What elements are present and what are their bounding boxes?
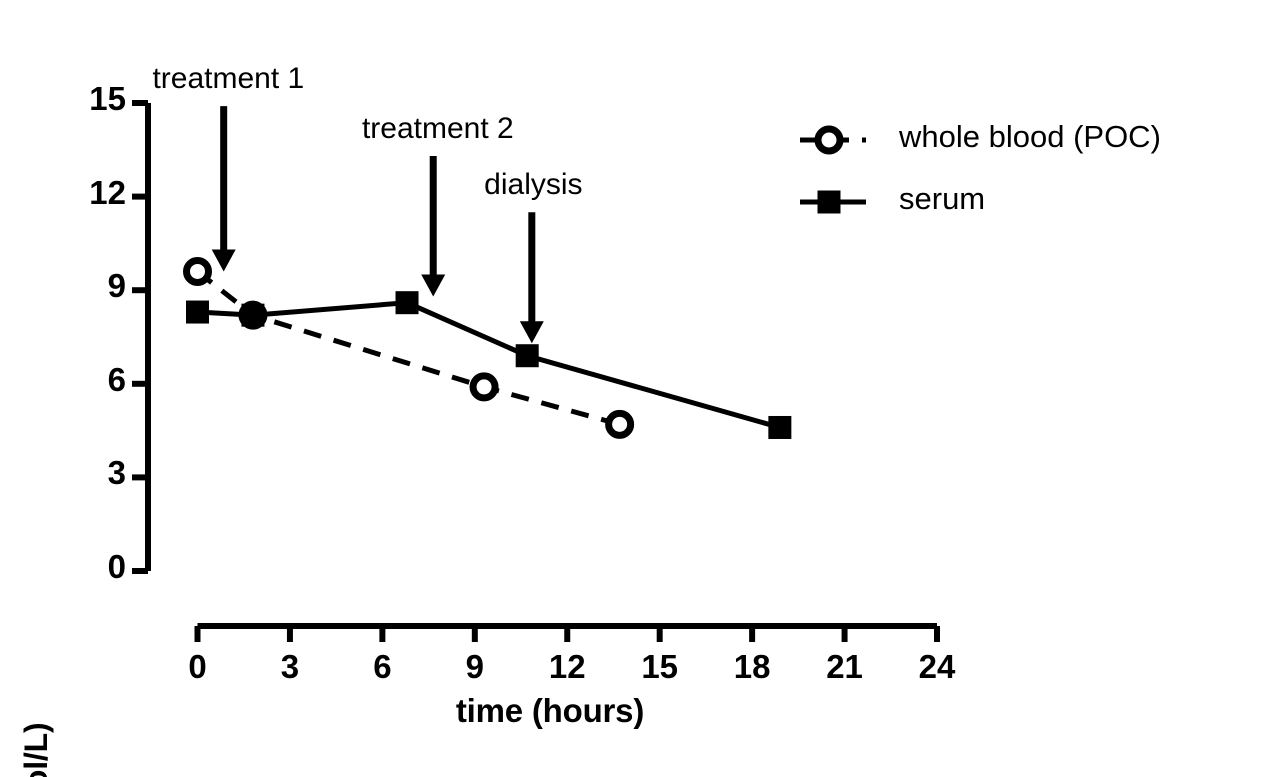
data-point-marker: [473, 376, 495, 398]
data-point-marker: [241, 304, 264, 327]
data-point-marker: [187, 260, 209, 282]
legend-marker-1: [818, 191, 841, 214]
axes-layer: [132, 103, 937, 642]
data-point-marker: [396, 291, 419, 314]
annotation-arrow-head: [520, 321, 544, 343]
data-point-marker: [768, 416, 791, 439]
series-line-1: [198, 303, 780, 428]
data-series-layer: [186, 260, 791, 439]
legend-marker-0: [818, 129, 840, 151]
chart-plot-area: [0, 0, 1271, 777]
data-point-marker: [609, 413, 631, 435]
chart-figure: potassium levels (mmol/L) time (hours) 0…: [0, 0, 1271, 777]
legend-symbols-layer: [800, 129, 866, 214]
annotation-arrow-head: [212, 249, 236, 271]
annotation-arrow-head: [421, 274, 445, 296]
data-point-marker: [186, 301, 209, 324]
data-point-marker: [516, 344, 539, 367]
